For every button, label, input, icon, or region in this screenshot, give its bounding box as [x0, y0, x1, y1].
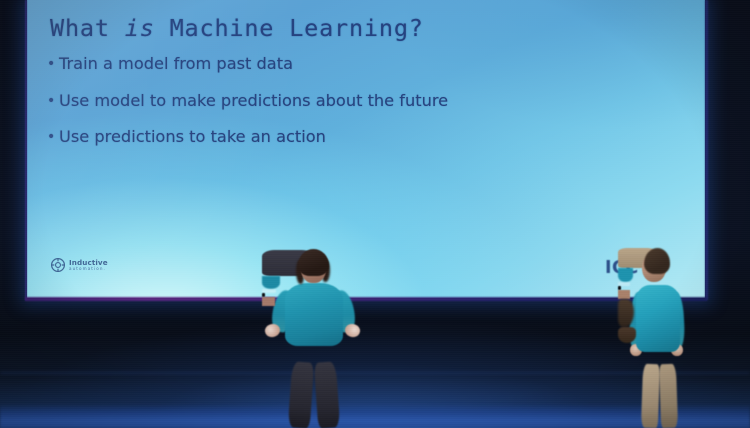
bullet-text: Use predictions to take an action — [59, 127, 326, 147]
logo-name: Inductive — [69, 259, 108, 266]
presenter-left-collar — [262, 276, 280, 289]
presenter-right-beard — [618, 327, 636, 343]
presenter-right-neck — [618, 290, 630, 299]
presenter-right — [618, 248, 710, 428]
presenter-right-hair — [644, 248, 670, 274]
presenter-left-torso — [285, 283, 343, 346]
bullet-text: Use model to make predictions about the … — [59, 91, 448, 111]
bullet-item: • Train a model from past data — [47, 54, 657, 74]
presenter-right-shirt-badge — [618, 282, 630, 286]
bullet-marker-icon: • — [47, 91, 59, 111]
slide-title-part2: Machine Learning? — [155, 14, 424, 42]
bullet-marker-icon: • — [47, 54, 59, 74]
gear-icon — [51, 258, 65, 272]
slide-title: What is Machine Learning? — [50, 14, 424, 42]
presenter-right-hair — [618, 299, 634, 327]
inductive-automation-logo: Inductive automation. — [51, 258, 108, 272]
presenter-left-hair — [298, 249, 329, 276]
slide-title-italic: is — [125, 14, 155, 42]
inductive-automation-wordmark: Inductive automation. — [69, 259, 108, 272]
presentation-screenshot: What is Machine Learning? • Train a mode… — [0, 0, 750, 428]
bullet-item: • Use model to make predictions about th… — [47, 91, 657, 111]
presenter-right-leg — [659, 364, 678, 428]
slide-title-part1: What — [50, 14, 125, 42]
bullet-item: • Use predictions to take an action — [47, 127, 657, 147]
presenter-right-collar — [618, 268, 633, 282]
presenter-left-leg — [288, 361, 315, 428]
bullet-text: Train a model from past data — [59, 54, 293, 74]
presenter-right-torso — [636, 285, 680, 352]
logo-subtitle: automation. — [69, 267, 108, 271]
presenter-left — [262, 250, 382, 428]
screen-left-rim — [25, 0, 27, 300]
slide-bullet-list: • Train a model from past data • Use mod… — [47, 54, 657, 164]
bullet-marker-icon: • — [47, 127, 59, 147]
presenter-left-leg — [314, 361, 341, 428]
presenter-left-neck — [262, 297, 275, 306]
presenter-right-leg — [641, 364, 660, 428]
